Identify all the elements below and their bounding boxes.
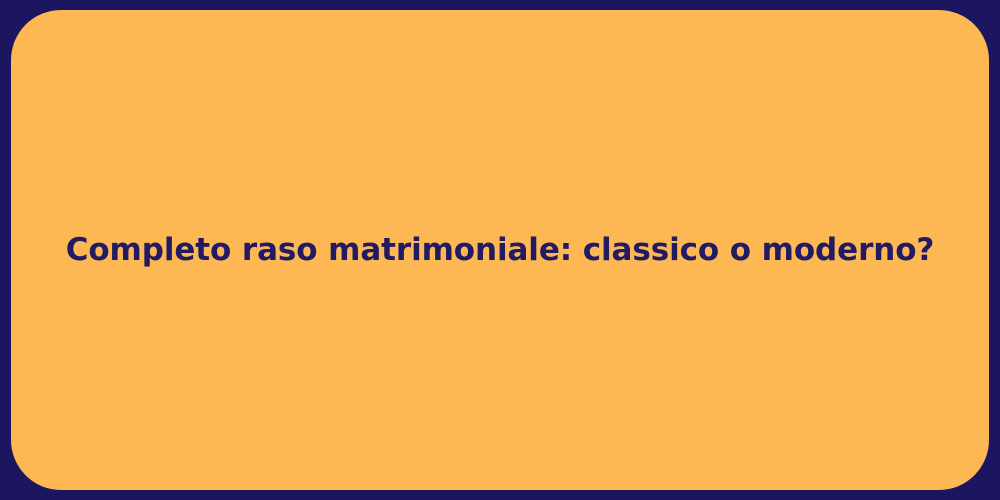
banner-panel: Completo raso matrimoniale: classico o m… <box>11 10 989 490</box>
page-title: Completo raso matrimoniale: classico o m… <box>26 231 975 270</box>
banner-frame: Completo raso matrimoniale: classico o m… <box>0 0 1000 500</box>
